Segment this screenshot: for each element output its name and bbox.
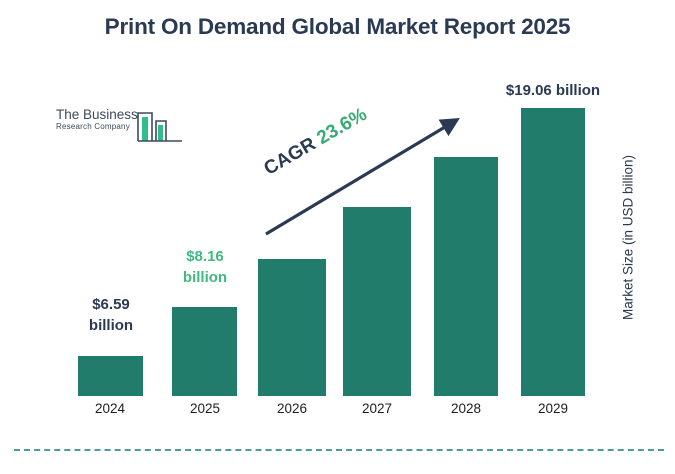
footer-divider (14, 449, 664, 451)
y-axis-label: Market Size (in USD billion) (621, 143, 636, 333)
chart-canvas: Print On Demand Global Market Report 202… (0, 0, 675, 474)
x-tick-2028: 2028 (421, 401, 511, 416)
x-tick-2027: 2027 (332, 401, 422, 416)
x-tick-2029: 2029 (508, 401, 598, 416)
x-tick-2024: 2024 (65, 401, 155, 416)
x-tick-2025: 2025 (160, 401, 250, 416)
x-tick-2026: 2026 (247, 401, 337, 416)
bar-chart-plot: $6.59 billion $8.16 billion $19.06 billi… (0, 0, 675, 474)
